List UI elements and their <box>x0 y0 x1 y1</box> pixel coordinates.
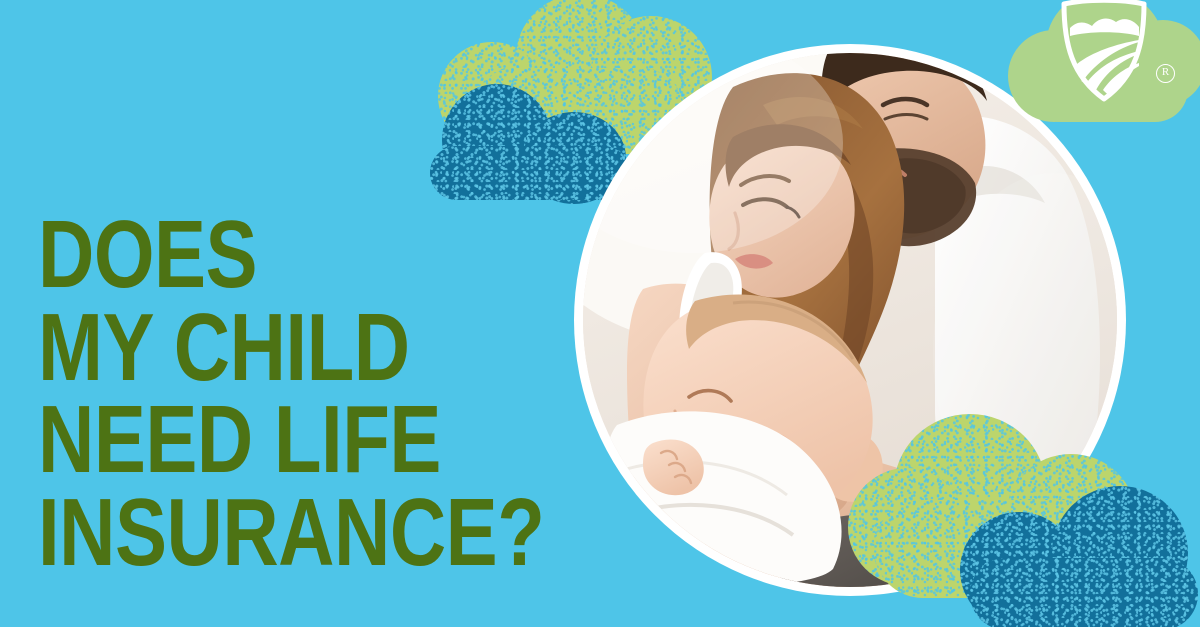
shield-icon <box>1060 0 1148 102</box>
headline-line-4: INSURANCE? <box>38 488 658 576</box>
headline-line-2: MY CHILD <box>38 303 658 391</box>
headline: DOES MY CHILD NEED LIFE INSURANCE? <box>38 210 658 580</box>
headline-line-1: DOES <box>38 210 658 298</box>
headline-line-3: NEED LIFE <box>38 395 658 483</box>
farm-bureau-logo[interactable]: R <box>1004 0 1194 156</box>
registered-trademark-icon: R <box>1156 64 1175 83</box>
promo-banner: DOES MY CHILD NEED LIFE INSURANCE? <box>0 0 1200 627</box>
